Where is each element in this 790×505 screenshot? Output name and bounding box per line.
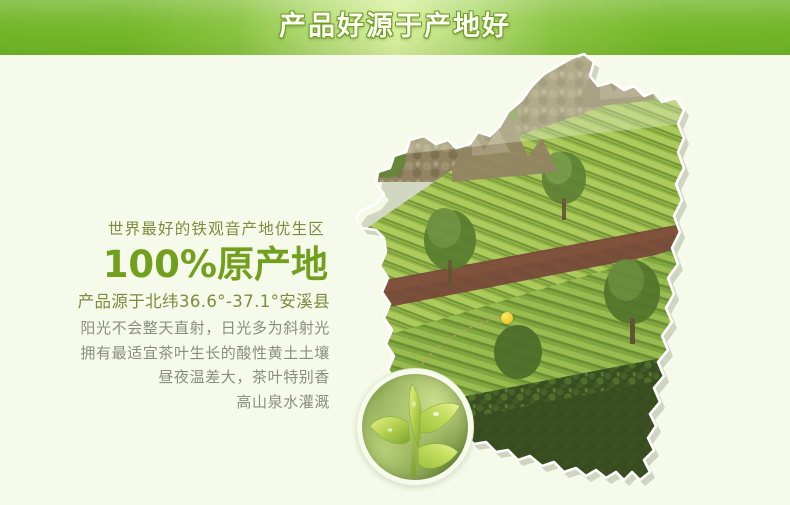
list-item: 昼夜温差大，茶叶特别香 [18, 365, 330, 390]
left-text-block: 世界最好的铁观音产地优生区 100%原产地 产品源于北纬36.6°-37.1°安… [18, 218, 330, 414]
location-marker-dot[interactable] [501, 312, 513, 324]
tea-leaf-photo [362, 374, 468, 480]
tagline-top: 世界最好的铁观音产地优生区 [18, 218, 330, 240]
tea-leaf-closeup-circle [356, 368, 474, 486]
subline-latitude: 产品源于北纬36.6°-37.1°安溪县 [18, 290, 330, 314]
tea-leaf-icon [362, 374, 468, 480]
list-item: 阳光不会整天直射，日光多为斜射光 [18, 316, 330, 341]
list-item: 高山泉水灌溉 [18, 390, 330, 415]
feature-list: 阳光不会整天直射，日光多为斜射光 拥有最适宜茶叶生长的酸性黄土土壤 昼夜温差大，… [18, 316, 330, 414]
product-origin-banner: 产品好源于产地好 [0, 0, 790, 505]
list-item: 拥有最适宜茶叶生长的酸性黄土土壤 [18, 341, 330, 366]
headline-100-percent-origin: 100%原产地 [18, 241, 330, 289]
header-band: 产品好源于产地好 [0, 0, 790, 55]
page-title: 产品好源于产地好 [0, 0, 790, 55]
